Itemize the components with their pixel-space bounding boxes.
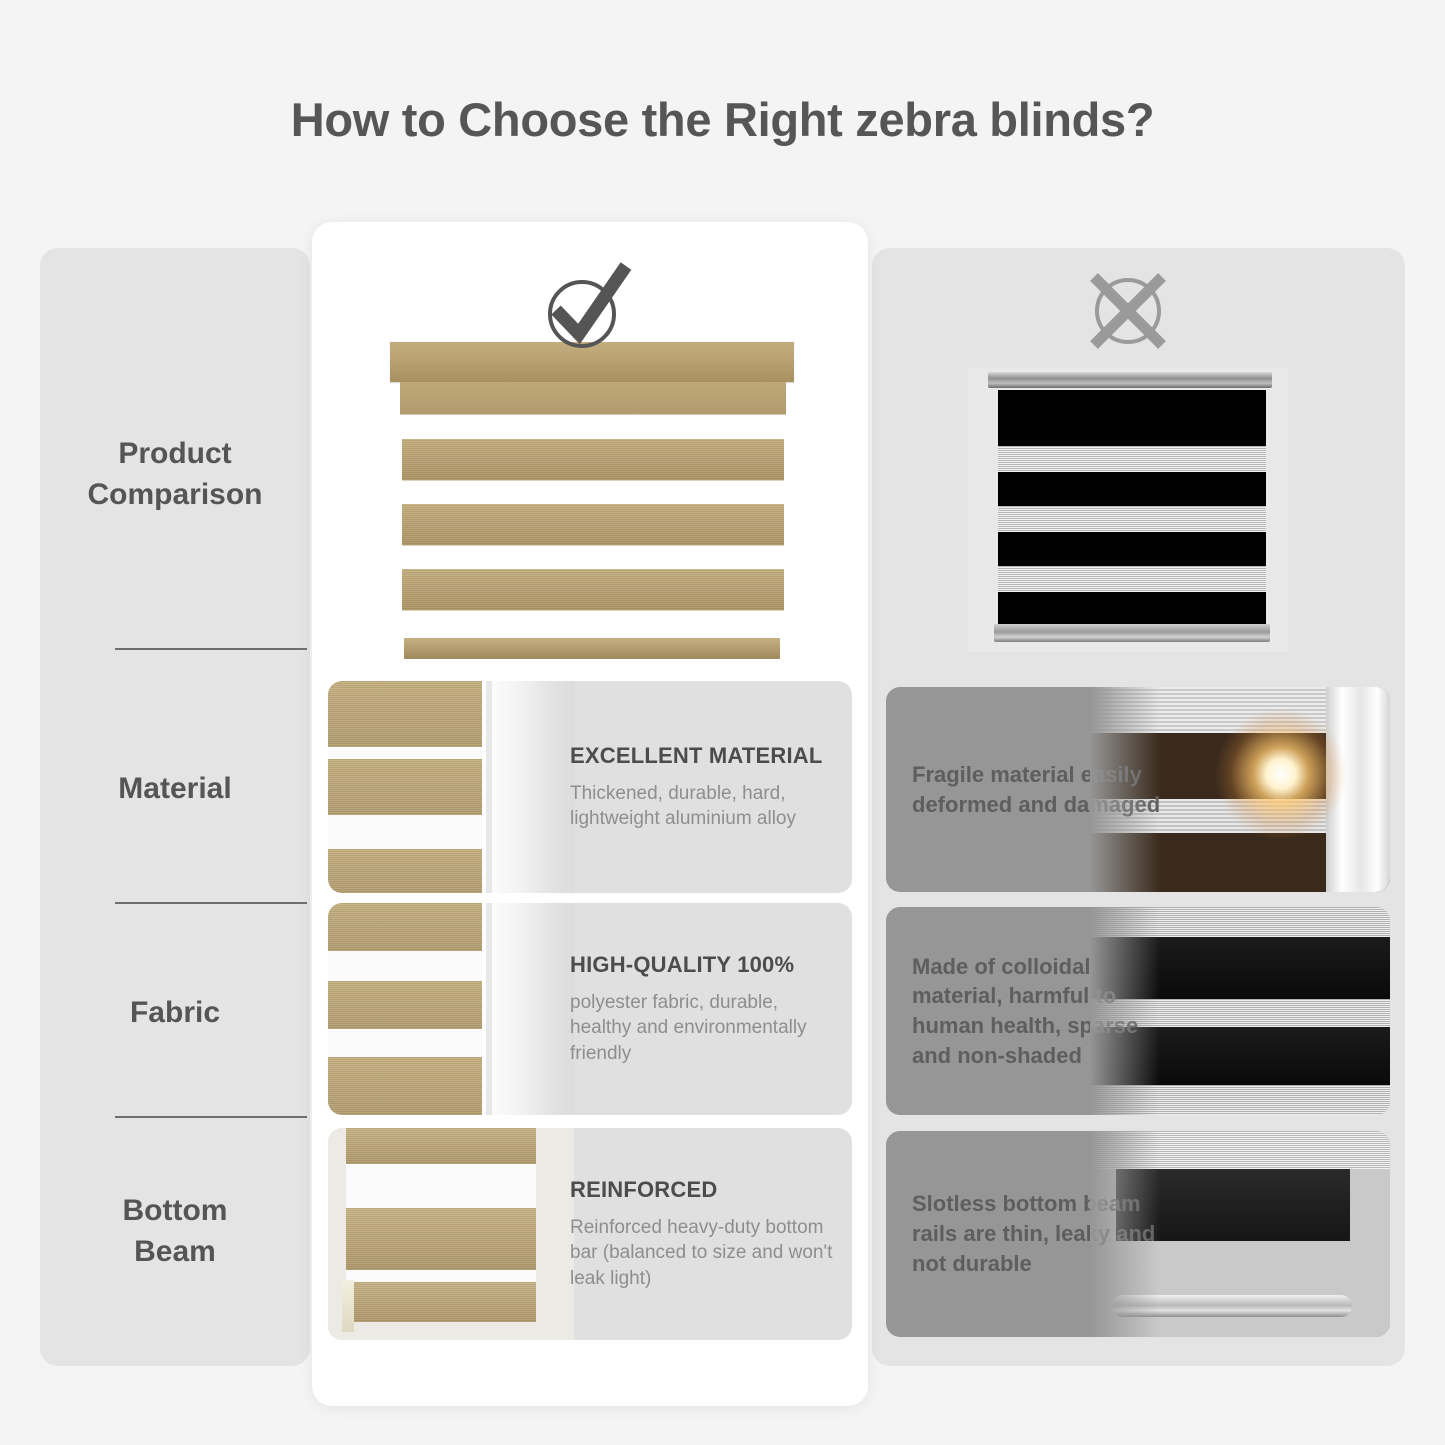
bad-hero-product-image (968, 368, 1288, 652)
blind-band (402, 504, 784, 546)
blind-slat (328, 981, 498, 1029)
photo-fade (1090, 907, 1160, 1115)
feature-text-fabric: HIGH-QUALITY 100% polyester fabric, dura… (570, 903, 852, 1115)
bottom-bar (404, 638, 780, 659)
blind-band (402, 569, 784, 611)
feature-title: EXCELLENT MATERIAL (570, 743, 838, 769)
row-divider-2 (115, 902, 307, 904)
sun-glare (1216, 709, 1346, 839)
sheer-band (998, 506, 1266, 532)
row-label-line1: Product (40, 433, 310, 474)
good-feature-card-fabric: HIGH-QUALITY 100% polyester fabric, dura… (328, 903, 852, 1115)
headrail (988, 372, 1272, 388)
page-title: How to Choose the Right zebra blinds? (0, 92, 1445, 147)
feature-photo-fragile-material (1090, 687, 1390, 892)
blind-body (998, 390, 1266, 624)
row-label-column: Product Comparison Material Fabric Botto… (40, 248, 310, 1366)
bottom-bar-photo (328, 1128, 574, 1340)
tan-blind-photo (328, 681, 498, 893)
blind-gap (328, 1029, 498, 1057)
photo-fade (1090, 1131, 1160, 1337)
blind-gap (328, 815, 498, 849)
good-hero-product-image (382, 342, 800, 664)
feature-photo-fabric (328, 903, 574, 1115)
infographic-page: How to Choose the Right zebra blinds? Pr… (0, 0, 1445, 1445)
tan-blind-photo (328, 903, 498, 1115)
bottom-bar-endcap (342, 1280, 354, 1332)
good-feature-card-material: EXCELLENT MATERIAL Thickened, durable, h… (328, 681, 852, 893)
feature-body: polyester fabric, durable, healthy and e… (570, 990, 838, 1066)
bottom-bar (994, 624, 1270, 642)
feature-title: REINFORCED (570, 1177, 838, 1203)
reinforced-bottom-bar (346, 1282, 536, 1322)
bad-feature-card-fabric: Made of colloidal material, harmful to h… (886, 907, 1390, 1115)
feature-photo-slotless-rail (1090, 1131, 1390, 1337)
blind-slat (328, 1057, 498, 1115)
sheer-band (998, 446, 1266, 472)
feature-title: HIGH-QUALITY 100% (570, 952, 838, 978)
row-divider-3 (115, 1116, 307, 1118)
row-label-line1: Fabric (40, 992, 310, 1033)
blind-slat (346, 1128, 536, 1164)
blind-slat (346, 1208, 536, 1270)
blind-gap (346, 1270, 536, 1282)
feature-text-bottom-beam: REINFORCED Reinforced heavy-duty bottom … (570, 1128, 852, 1340)
feature-photo-bottom-beam (328, 1128, 574, 1340)
bad-feature-card-material: Fragile material easily deformed and dam… (886, 687, 1390, 892)
row-label-line1: Material (40, 768, 310, 809)
blind-slat (328, 759, 498, 815)
check-circle-icon (538, 258, 638, 350)
row-label-fabric: Fabric (40, 992, 310, 1033)
feature-body: Thickened, durable, hard, lightweight al… (570, 781, 838, 832)
row-label-line2: Beam (40, 1231, 310, 1272)
good-feature-card-bottom-beam: REINFORCED Reinforced heavy-duty bottom … (328, 1128, 852, 1340)
row-label-product-comparison: Product Comparison (40, 433, 310, 516)
sheer-band (998, 566, 1266, 592)
blind-gap (328, 747, 498, 759)
window-frame (482, 681, 574, 893)
cross-circle-icon (1082, 268, 1174, 353)
feature-photo-material (328, 681, 574, 893)
blind-slat (328, 681, 498, 747)
blind-slat (328, 903, 498, 951)
row-label-material: Material (40, 768, 310, 809)
window-frame (482, 903, 574, 1115)
photo-fade (1090, 687, 1160, 892)
headrail-valance (400, 382, 786, 415)
feature-photo-colloidal-material (1090, 907, 1390, 1115)
blind-slat (328, 849, 498, 893)
row-label-line2: Comparison (40, 474, 310, 515)
row-label-bottom-beam: Bottom Beam (40, 1190, 310, 1273)
blind-gap (346, 1164, 536, 1208)
bad-feature-card-bottom-beam: Slotless bottom beam rails are thin, lea… (886, 1131, 1390, 1337)
blind-gap (328, 951, 498, 981)
feature-body: Reinforced heavy-duty bottom bar (balanc… (570, 1215, 838, 1291)
row-label-line1: Bottom (40, 1190, 310, 1231)
blind-band (402, 439, 784, 481)
row-divider-1 (115, 648, 307, 650)
feature-text-material: EXCELLENT MATERIAL Thickened, durable, h… (570, 681, 852, 893)
